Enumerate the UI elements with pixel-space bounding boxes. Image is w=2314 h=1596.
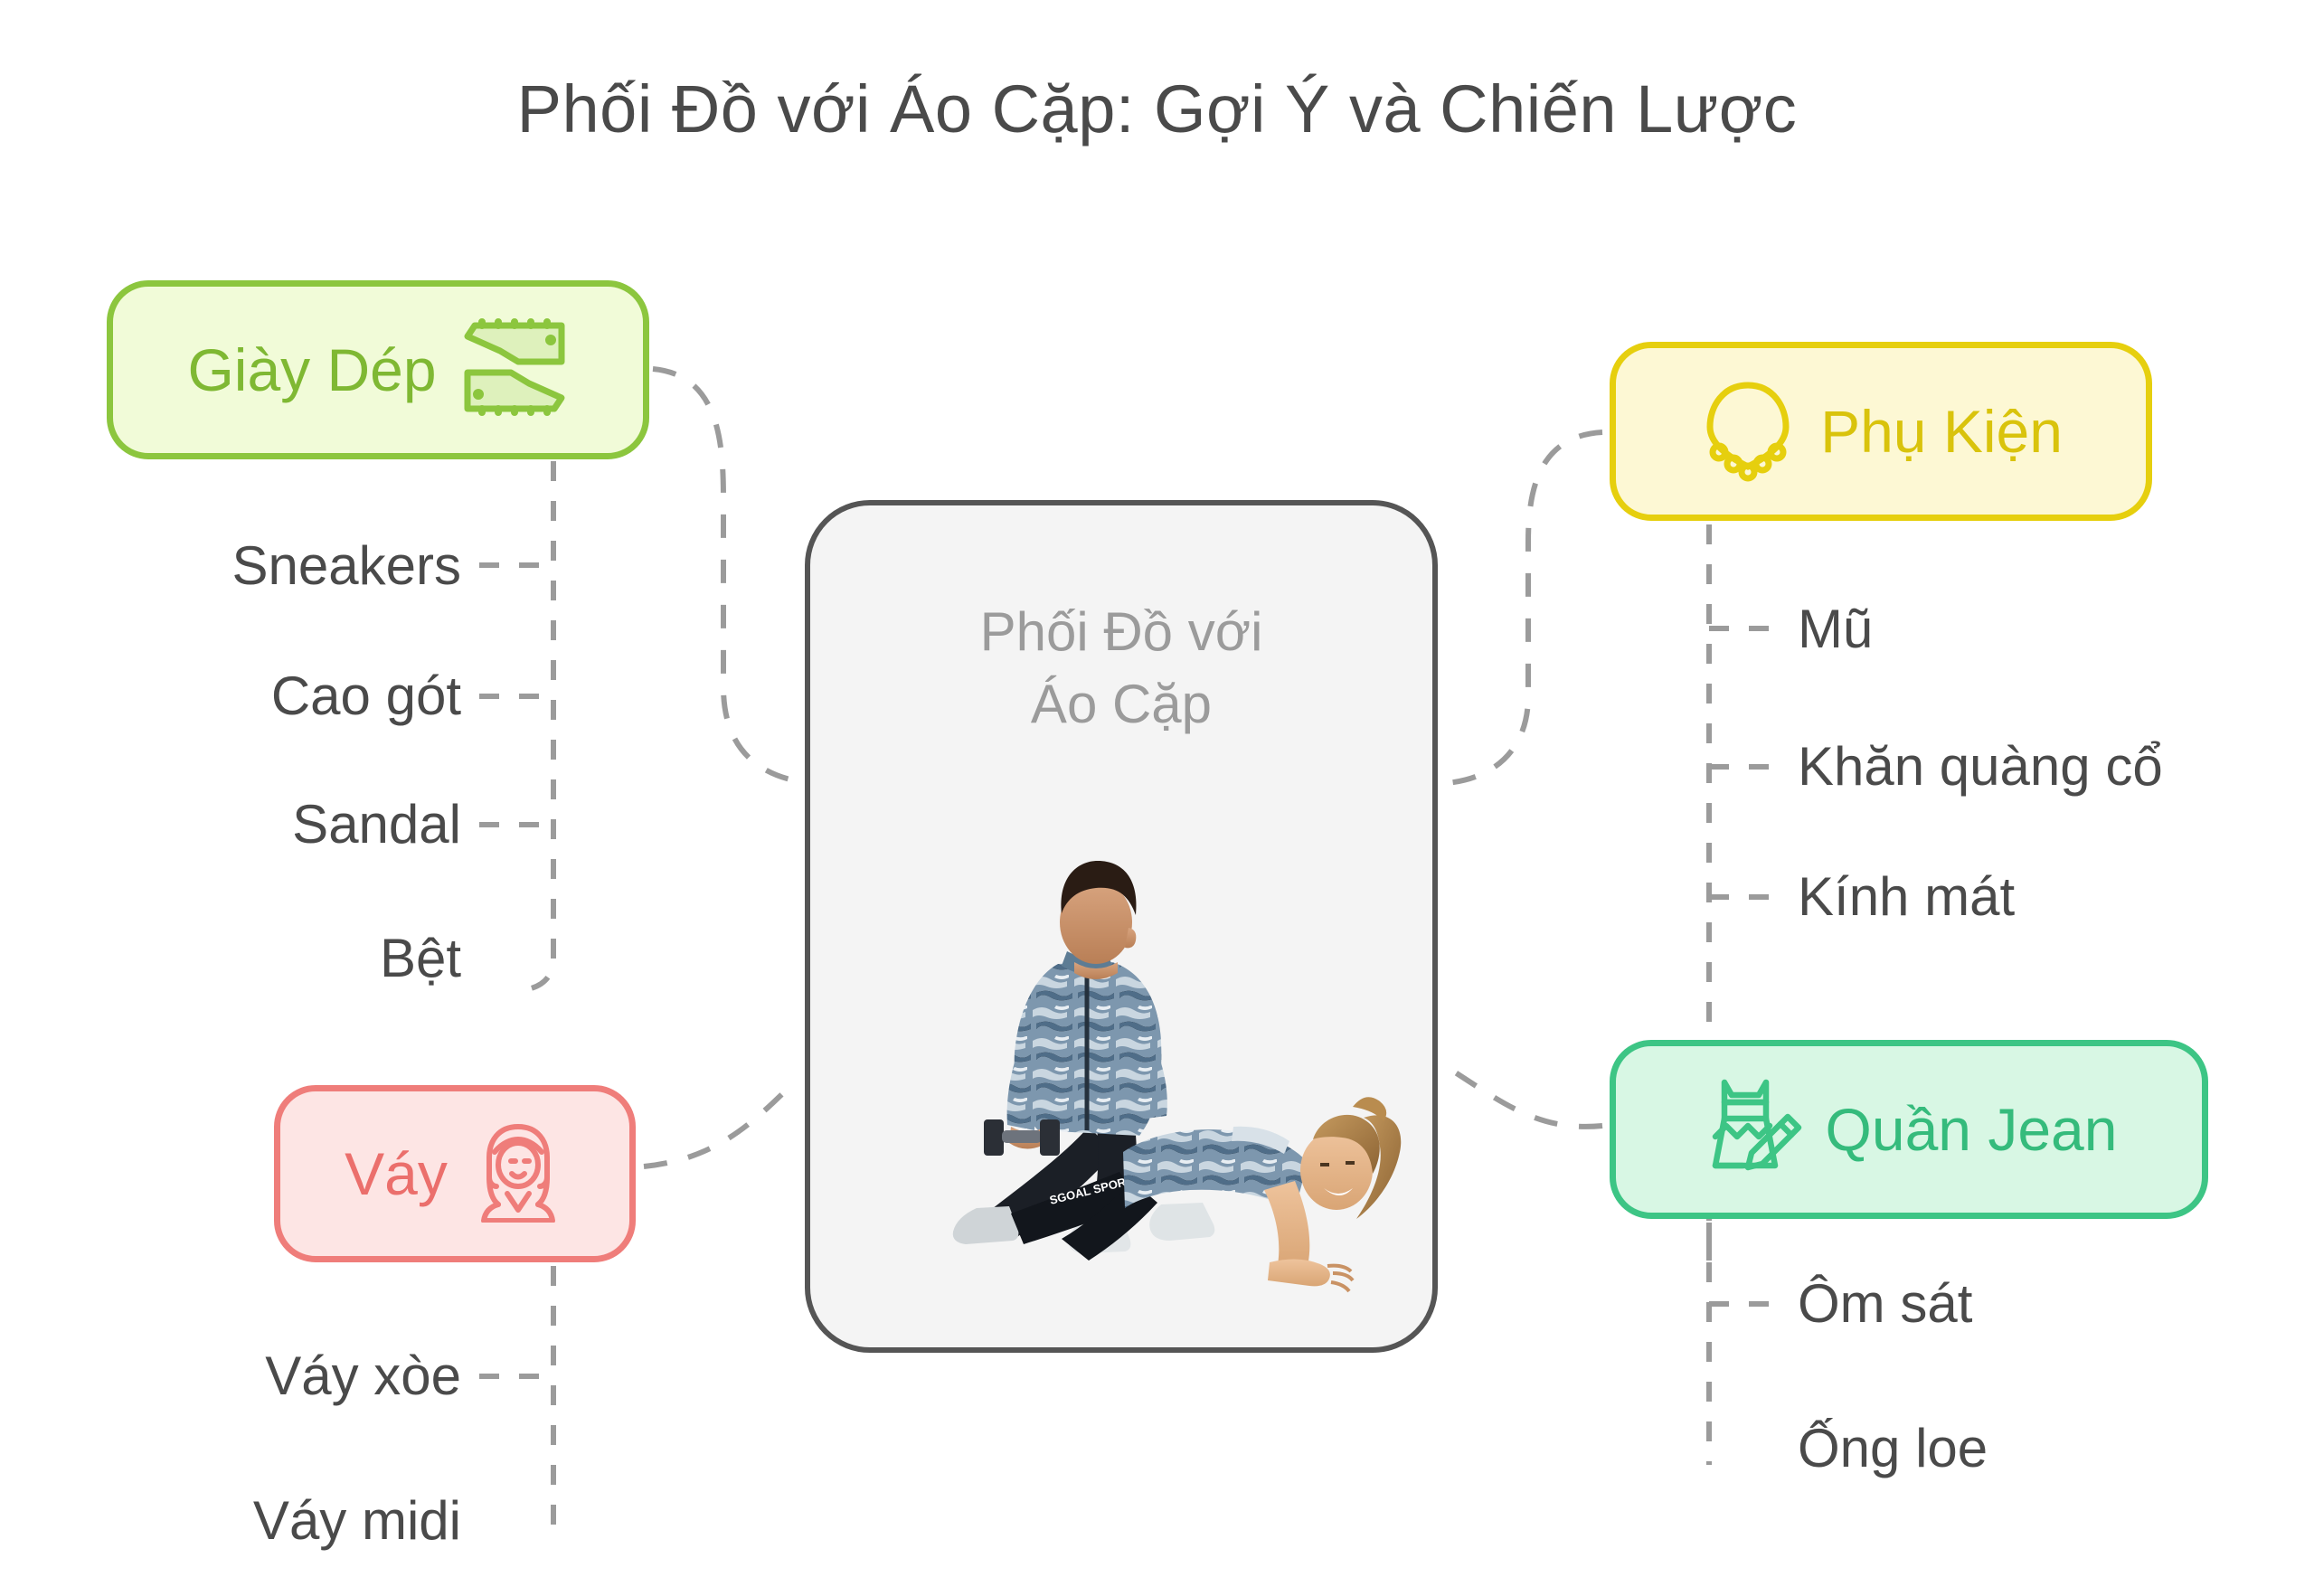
leaf-label-ong-loe[interactable]: Ống loe [1798,1421,1988,1476]
branch-node-jeans[interactable]: Quần Jean [1610,1040,2208,1219]
leaf-label-sneakers[interactable]: Sneakers [90,539,461,593]
branch-label-jeans: Quần Jean [1826,1100,2118,1159]
leaf-label-bet[interactable]: Bệt [90,931,461,986]
leaf-label-om-sat[interactable]: Ôm sát [1798,1277,1972,1331]
branch-node-shoes[interactable]: Giày Dép [107,280,649,459]
necklace-icon [1699,376,1797,487]
branch-node-skirt[interactable]: Váy [274,1085,636,1262]
center-title-line-1: Phối Đồ với [980,601,1263,662]
connector-shoes-to-center [653,369,809,783]
leaf-label-mu[interactable]: Mũ [1798,602,1873,656]
center-title-line-2: Áo Cặp [1031,674,1212,734]
leaf-label-cao-got[interactable]: Cao gót [90,669,461,723]
branch-label-skirt: Váy [345,1144,448,1204]
dress-pencil-icon [1701,1075,1802,1185]
branch-label-shoes: Giày Dép [187,340,436,400]
branch-label-accessories: Phụ Kiện [1820,401,2063,461]
center-hub-title: Phối Đồ với Áo Cặp [810,596,1432,741]
leaf-label-sandal[interactable]: Sandal [90,798,461,852]
center-hub-card[interactable]: Phối Đồ với Áo Cặp [805,500,1438,1353]
fitness-couple-photo: SGOAL SPORT [825,821,1431,1327]
leaf-label-vay-xoe[interactable]: Váy xòe [90,1349,461,1403]
branch-node-accessories[interactable]: Phụ Kiện [1610,342,2152,521]
leaf-label-khan-quang-co[interactable]: Khăn quàng cổ [1798,740,2163,794]
leaf-label-vay-midi[interactable]: Váy midi [90,1494,461,1548]
connector-shoes-spine [523,461,553,990]
connector-accessories-to-center [1447,432,1602,783]
sneakers-icon [460,318,569,422]
mindmap-canvas: Phối Đồ với Áo Cặp: Gợi Ý và Chiến Lược … [0,0,2314,1596]
leaf-label-kinh-mat[interactable]: Kính mát [1798,870,2015,924]
page-title: Phối Đồ với Áo Cặp: Gợi Ý và Chiến Lược [0,71,2314,147]
connector-jeans-to-center [1447,1067,1602,1127]
woman-avatar-icon [471,1121,565,1227]
connector-skirt-to-center [644,1081,796,1166]
